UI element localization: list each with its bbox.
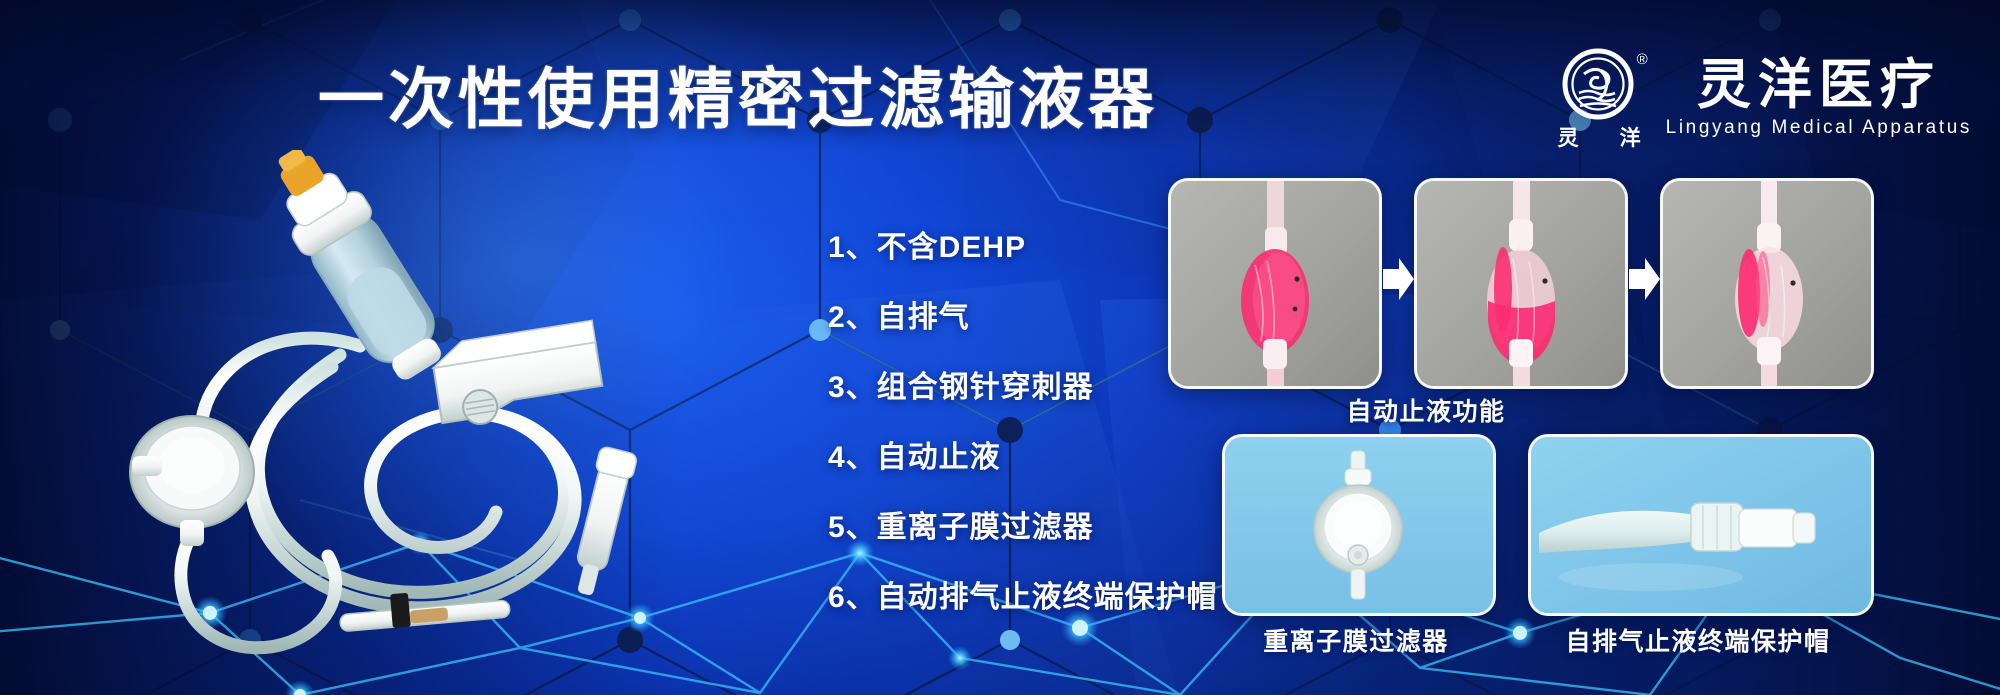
product-banner: 一次性使用精密过滤输液器 ® 灵 洋 灵洋医疗 Lingyang Medical…	[0, 0, 2000, 695]
company-name-en: Lingyang Medical Apparatus	[1666, 117, 1972, 139]
caption-filter: 重离子膜过滤器	[1263, 622, 1449, 658]
photo-panel-terminal-cap	[1528, 434, 1874, 616]
feature-item-6: 6、自动排气止液终端保护帽	[828, 572, 1218, 616]
emblem-char-right: 洋	[1620, 122, 1642, 152]
feature-item-4: 4、自动止液	[828, 432, 1218, 476]
photo-panel-auto-stop-3	[1660, 178, 1874, 389]
company-name-cn: 灵洋医疗	[1697, 57, 1941, 114]
product-roller-clamp	[430, 320, 605, 430]
photo-panel-auto-stop-1	[1168, 178, 1382, 389]
emblem-char-left: 灵	[1558, 122, 1580, 152]
registered-mark: ®	[1637, 52, 1648, 67]
feature-item-2: 2、自排气	[828, 292, 1218, 336]
banner-title: 一次性使用精密过滤输液器	[318, 46, 1158, 142]
sequence-arrow-1-icon	[1381, 255, 1415, 303]
sequence-arrow-2-icon	[1627, 255, 1661, 303]
feature-item-5: 5、重离子膜过滤器	[828, 502, 1218, 546]
company-name-block: 灵洋医疗 Lingyang Medical Apparatus	[1666, 57, 1972, 140]
feature-item-1: 1、不含DEHP	[828, 222, 1218, 266]
photo-panel-auto-stop-2	[1414, 178, 1628, 389]
company-logo: ® 灵 洋 灵洋医疗 Lingyang Medical Apparatus	[1554, 44, 1972, 152]
caption-terminal-cap: 自排气止液终端保护帽	[1565, 622, 1830, 658]
photo-panel-filter	[1222, 434, 1496, 616]
product-drip-chamber	[253, 150, 458, 392]
product-membrane-filter	[130, 416, 254, 546]
feature-item-3: 3、组合钢针穿刺器	[828, 362, 1218, 406]
feature-list: 1、不含DEHP 2、自排气 3、组合钢针穿刺器 4、自动止液 5、重离子膜过滤…	[828, 222, 1218, 616]
logo-emblem-icon: ® 灵 洋	[1554, 44, 1646, 152]
product-photo-infusion-set	[40, 150, 780, 670]
caption-auto-stop: 自动止液功能	[1346, 392, 1505, 428]
